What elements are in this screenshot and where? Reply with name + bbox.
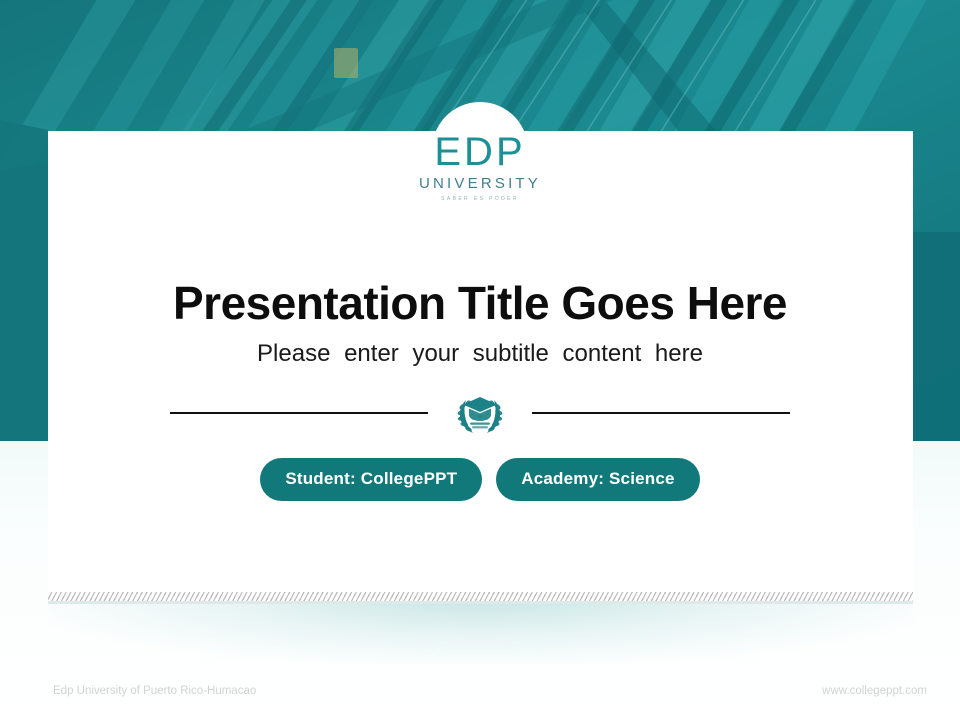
divider-line-right: [532, 412, 790, 414]
presentation-slide: EDP UNIVERSITY SABER ES PODER Presentati…: [0, 0, 960, 720]
card-bottom-edge: [48, 601, 913, 604]
logo-edp-text: EDP: [434, 132, 525, 172]
badge-row: Student: CollegePPT Academy: Science: [0, 458, 960, 501]
logo-tagline-text: SABER ES PODER: [441, 196, 519, 202]
badge-student[interactable]: Student: CollegePPT: [260, 458, 482, 501]
logo: EDP UNIVERSITY SABER ES PODER: [0, 132, 960, 202]
footer-institution-text: Edp University of Puerto Rico-Humacao: [53, 685, 256, 697]
divider-row: [0, 388, 960, 438]
badge-academy[interactable]: Academy: Science: [496, 458, 699, 501]
page-subtitle: Please enter your subtitle content here: [0, 340, 960, 368]
divider-line-left: [170, 412, 428, 414]
page-title: Presentation Title Goes Here: [0, 276, 960, 330]
logo-university-text: UNIVERSITY: [419, 175, 541, 192]
graduation-cap-laurel-icon: [452, 388, 508, 438]
footer-website-text[interactable]: www.collegeppt.com: [822, 685, 927, 697]
